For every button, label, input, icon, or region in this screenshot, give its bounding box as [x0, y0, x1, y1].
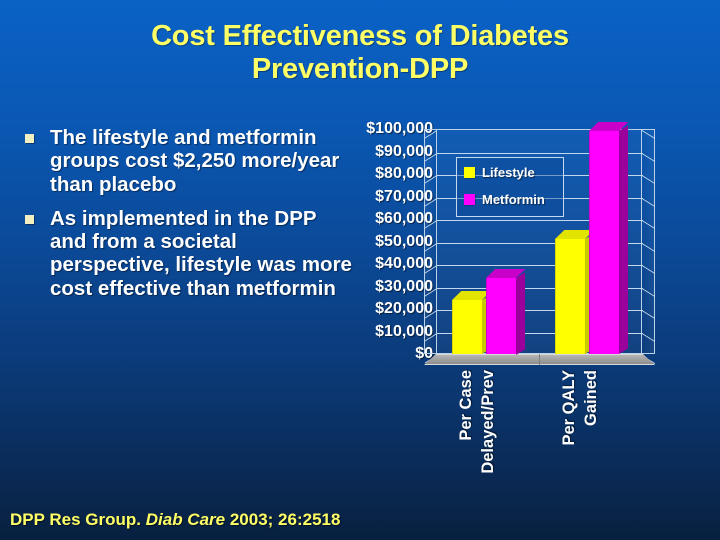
bar-face	[555, 239, 585, 354]
y-axis-tick: $80,000	[348, 166, 433, 182]
title-line-2: Prevention-DPP	[40, 53, 680, 86]
wall-rung	[642, 175, 655, 184]
bar-side	[619, 126, 628, 354]
bar-face	[486, 278, 516, 355]
bar-metformin-1	[589, 131, 619, 354]
x-axis-category-label: Gained	[583, 370, 600, 426]
wall-rung	[642, 198, 655, 207]
bar-face	[452, 300, 482, 354]
x-axis-category-label: Per Case	[458, 370, 475, 441]
legend-label: Metformin	[482, 192, 545, 207]
wall-rung	[642, 243, 655, 252]
x-axis-category-label: Per QALY	[561, 370, 578, 446]
floor-tick	[539, 354, 540, 365]
chart-left-wall	[424, 129, 436, 354]
bullet-text: The lifestyle and metformin groups cost …	[50, 126, 339, 196]
y-axis-tick: $50,000	[348, 234, 433, 250]
wall-rung	[642, 130, 655, 139]
legend-label: Lifestyle	[482, 165, 535, 180]
bar-side	[516, 272, 525, 354]
citation-footer: DPP Res Group. Diab Care 2003; 26:2518	[10, 510, 340, 530]
bar-face	[589, 131, 619, 354]
chart-right-wall	[642, 129, 655, 354]
y-axis-tick: $60,000	[348, 211, 433, 227]
plot-area: Lifestyle Metformin	[436, 129, 642, 354]
y-axis-tick: $90,000	[348, 144, 433, 160]
wall-rung	[642, 333, 655, 342]
bar-lifestyle-1	[555, 239, 585, 354]
y-axis-tick: $0	[348, 346, 433, 362]
bullet-square-icon	[25, 134, 34, 143]
citation-journal: Diab Care	[146, 510, 225, 529]
y-axis-tick: $100,000	[348, 121, 433, 137]
x-axis-category-label: Delayed/Prev	[480, 370, 497, 474]
bar-metformin-0	[486, 278, 516, 355]
y-axis-tick-labels: $100,000$90,000$80,000$70,000$60,000$50,…	[348, 126, 433, 358]
citation-prefix: DPP Res Group.	[10, 510, 141, 529]
legend-swatch-metformin	[464, 194, 475, 205]
chart-legend: Lifestyle Metformin	[456, 157, 564, 217]
wall-rung	[642, 310, 655, 319]
page-title: Cost Effectiveness of Diabetes Preventio…	[40, 20, 680, 86]
slide-canvas: Cost Effectiveness of Diabetes Preventio…	[0, 0, 720, 540]
wall-rung	[642, 153, 655, 162]
list-item: The lifestyle and metformin groups cost …	[18, 126, 358, 196]
y-axis-tick: $40,000	[348, 256, 433, 272]
y-axis-tick: $10,000	[348, 324, 433, 340]
legend-swatch-lifestyle	[464, 167, 475, 178]
y-axis-tick: $20,000	[348, 301, 433, 317]
bullet-square-icon	[25, 215, 34, 224]
citation-suffix: 2003; 26:2518	[230, 510, 341, 529]
bar-chart: $100,000$90,000$80,000$70,000$60,000$50,…	[348, 126, 710, 526]
wall-rung	[642, 288, 655, 297]
bullet-list: The lifestyle and metformin groups cost …	[18, 126, 358, 311]
title-line-1: Cost Effectiveness of Diabetes	[40, 20, 680, 53]
legend-item: Metformin	[464, 192, 557, 207]
wall-rung	[642, 265, 655, 274]
wall-rung	[642, 220, 655, 229]
bullet-text: As implemented in the DPP and from a soc…	[50, 207, 352, 300]
bar-lifestyle-0	[452, 300, 482, 354]
y-axis-tick: $70,000	[348, 189, 433, 205]
y-axis-tick: $30,000	[348, 279, 433, 295]
legend-item: Lifestyle	[464, 165, 557, 180]
list-item: As implemented in the DPP and from a soc…	[18, 207, 358, 300]
